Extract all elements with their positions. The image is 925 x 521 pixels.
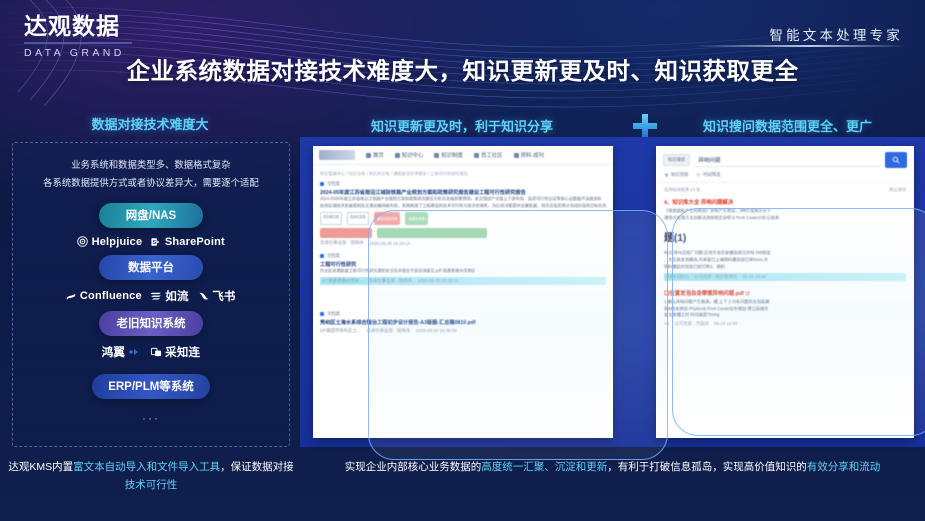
search-button[interactable] xyxy=(885,152,907,168)
pill-erp-plm[interactable]: ERP/PLM等系统 xyxy=(92,374,210,399)
mid-nav-resource[interactable]: 资料-成刊 xyxy=(514,151,544,159)
mid-doc-snippet: 作业区进港航道工程可行性研究通航安全技术报告专家咨询意见.pdf 南通港通州湾港… xyxy=(320,268,606,275)
result-snippet: 理&根本原因 Physics& Root Cause钻布增加 博三段缝合 xyxy=(664,306,906,313)
helpjuice-icon xyxy=(77,236,88,247)
right-searchbar: 知识搜索 异响问题 xyxy=(656,146,914,172)
caption-left-run-3: 技术可行性 xyxy=(125,479,178,491)
mid-doc-title[interactable]: 工程可行性研究 xyxy=(320,261,606,268)
mid-nav-knowledge-policy[interactable]: 知识制度 xyxy=(434,151,463,159)
brand-caizhilian-label: 采知连 xyxy=(165,344,200,360)
brand-ruliu-label: 如流 xyxy=(165,288,188,304)
mid-doc-bullet-icon xyxy=(320,312,324,316)
result-meta-tag: 异响问题(1) xyxy=(666,274,689,280)
feishu-icon xyxy=(198,291,209,301)
brand-feishu: 飞书 xyxy=(198,288,236,304)
panel-desc-line-1: 业务系统和数据类型多、数据格式复杂 xyxy=(23,156,279,174)
mid-app-logo xyxy=(319,150,355,160)
svg-text:S: S xyxy=(153,240,157,246)
caption-left-run-2: ，保证数据对接 xyxy=(220,461,294,473)
tagline-underline xyxy=(692,45,907,47)
mid-nav-knowledge-center[interactable]: 知识中心 xyxy=(395,151,424,159)
mid-doc-meta-prefix: DP莆田市秀屿区土... xyxy=(320,328,361,334)
more-sources-ellipsis: ··· xyxy=(13,411,289,425)
brand-helpjuice: Helpjuice xyxy=(77,236,142,248)
caption-right-run-2: ，有利于打破信息孤岛，实现高价值知识的 xyxy=(607,461,807,473)
brand-caizhilian: 采知连 xyxy=(151,344,201,360)
result-meta: A4 公司总部 · 万国龙 05-19 16:55 xyxy=(664,321,906,327)
mid-chip-green: 进度安排表 xyxy=(405,212,428,225)
brand-hongyi: 鸿翼 xyxy=(102,344,142,360)
search-scope-select[interactable]: 知识搜索 xyxy=(663,154,690,166)
mid-doc-meta-time: 2025-05-30 16:38:08 xyxy=(416,328,457,333)
mid-bar-red xyxy=(320,228,372,238)
mid-doc-title[interactable]: 秀屿区土海水系综合整治工程初步设计报告-A3版图-汇总稿0810.pdf xyxy=(320,319,606,326)
brand-feishu-label: 飞书 xyxy=(212,288,235,304)
result-snippet: 《排放超标产生的原因》异响产生原因，3种分类表示分于 xyxy=(664,208,906,215)
mid-doc-snippet: 2024-2025年度江苏省南沿江铁路产业规划方案和政策研究报告分析及发展前景预… xyxy=(320,196,606,203)
tagline: 智能文本处理专家 xyxy=(769,24,903,44)
brand-row-netdisk: Helpjuice S SharePoint xyxy=(13,236,289,248)
result-meta-time: 05-19 16:55 xyxy=(714,321,737,327)
filter-time[interactable]: 时间筛选 xyxy=(696,172,720,178)
result-meta: 异响问题(1) 公司总部 · 知识管理员 05-20 10:49 xyxy=(664,273,906,281)
caption-right-run-0: 实现企业内部核心业务数据的 xyxy=(345,461,482,473)
mid-nav-home[interactable]: 首页 xyxy=(366,151,384,159)
mid-doc-tablechips: 项目概况表 投资估算表 建设内容说明 进度安排表 xyxy=(320,212,606,225)
mid-doc-meta-time: 2025-05-30 16:19:11 xyxy=(418,278,458,283)
mid-minibox: 投资估算表 xyxy=(347,212,369,225)
filter-knowledge-scope[interactable]: 知识范围 xyxy=(664,172,688,178)
mid-doc-meta: 总承包事业部 · 饶炜玮 2025-05-30 16:19:14 xyxy=(320,240,606,246)
result-meta-dept: 公司总部 · 万国龙 xyxy=(674,321,709,327)
mid-doc-meta-dept: 总承包事业部 · 饶炜玮 xyxy=(367,328,410,334)
brand-helpjuice-label: Helpjuice xyxy=(92,236,143,248)
result-snippet: 通用式处理方法及解决流程规定说明 & Root Cause分析记录表 xyxy=(664,215,906,222)
mid-doc-bullet-icon xyxy=(320,254,324,258)
knowledge-update-screenshot[interactable]: 首页 知识中心 知识制度 员工社区 资料-成刊 知识管理中心 / 知识分享 / … xyxy=(313,146,613,438)
brand-row-legacy: 鸿翼 采知连 xyxy=(13,344,289,360)
mid-doc-meta: DP莆田市秀屿区土... 总承包事业部 · 饶炜玮 2025-05-30 16:… xyxy=(320,328,606,334)
section-title-right: 知识搜问数据范围更全、更广 xyxy=(655,116,920,135)
result-snippet: 省去割槽工时 时间速度Timing xyxy=(664,312,906,319)
brand-sharepoint: S SharePoint xyxy=(151,236,225,248)
ruliu-icon xyxy=(151,291,162,300)
mid-doc-meta-dept: 总承包事业部 · 饶炜玮 xyxy=(320,240,363,246)
result-snippet: 1.确认异响问题产生根源。槽,上下 2.分析问题的长短距解 xyxy=(664,299,906,306)
brand-logo-cn: 达观数据 xyxy=(24,14,144,38)
brand-sharepoint-label: SharePoint xyxy=(165,236,225,248)
mid-doc-tag: 文档类 xyxy=(320,181,606,187)
mid-doc-meta-dept: 总承包事业部 · 饶炜玮 xyxy=(369,278,412,284)
mid-topbar: 首页 知识中心 知识制度 员工社区 资料-成刊 xyxy=(313,146,613,165)
slide-root: 达观数据 DATA GRAND 智能文本处理专家 企业系统数据对接技术难度大，知… xyxy=(0,0,925,521)
mid-doc-bullet-icon xyxy=(320,182,324,186)
result-snippet: 地点:常州总装厂问题:后排大坐吊紧槽处按压异响 085制定 xyxy=(664,250,906,257)
pill-data-platform[interactable]: 数据平台 xyxy=(99,255,203,280)
mid-doc-title[interactable]: 2024-05年度江苏省南沿江城际铁路产业规划方案和政策研究报告建设工程可行性研… xyxy=(320,189,606,196)
mid-doc-entry[interactable]: 文档类 工程可行性研究 作业区进港航道工程可行性研究通航安全技术报告专家咨询意见… xyxy=(320,253,606,285)
mid-body: 知识管理中心 / 知识分享 / 知识库文档 / 通航安全技术报告 / 工程可行性… xyxy=(313,165,613,345)
result-title[interactable]: 4、知识库大全 异响问题解决 xyxy=(664,198,906,206)
knowledge-search-screenshot[interactable]: 知识搜索 异响问题 知识范围 xyxy=(656,146,914,438)
confluence-icon xyxy=(66,291,76,301)
plus-icon xyxy=(631,112,659,140)
mid-doc-tag: 文档类 xyxy=(320,311,606,317)
result-title[interactable]: 口位置发泡自身摩擦异响问题.pdf xyxy=(664,289,906,297)
mid-doc-meta-prefix: 17 南通港通州湾海... xyxy=(322,278,363,284)
pill-netdisk-nas[interactable]: 网盘/NAS xyxy=(99,203,203,228)
hongyi-arrow-icon xyxy=(129,348,142,356)
caption-left-run-1: 富文本自动导入和文件导入工具 xyxy=(73,461,220,473)
caption-right-run-1: 高度统一汇聚、沉淀和更新 xyxy=(481,461,607,473)
page-title: 企业系统数据对接技术难度大，知识更新更及时、知识获取更全 xyxy=(0,52,925,86)
panel-desc-line-2: 各系统数据提供方式或者协议差异大，需要逐个适配 xyxy=(23,174,279,192)
result-snippet: 隔料槽此时局部已经打断2、隔料 xyxy=(664,264,906,271)
caption-right-run-3: 有效分享和流动 xyxy=(807,461,881,473)
result-meta-dept: 公司总部 · 知识管理员 xyxy=(694,274,737,280)
filter-icon xyxy=(664,173,669,178)
search-result-item[interactable]: 地点:常州总装厂问题:后排大坐吊紧槽处按压异响 085制定 、大后座发泡模具,吊… xyxy=(656,247,914,286)
caption-left-run-0: 达观KMS内置 xyxy=(8,461,73,473)
sharepoint-icon: S xyxy=(151,237,161,247)
search-result-item[interactable]: 4、知识库大全 异响问题解决 《排放超标产生的原因》异响产生原因，3种分类表示分… xyxy=(656,195,914,227)
mid-breadcrumb: 知识管理中心 / 知识分享 / 知识库文档 / 通航安全技术报告 / 工程可行性… xyxy=(320,171,606,177)
result-count: 找到相关结果 23 条 xyxy=(664,187,700,193)
brand-ruliu: 如流 xyxy=(151,288,189,304)
pill-legacy-knowledge[interactable]: 老旧知识系统 xyxy=(99,311,203,336)
mid-shot-content: 首页 知识中心 知识制度 员工社区 资料-成刊 知识管理中心 / 知识分享 / … xyxy=(313,146,613,438)
brand-hongyi-label: 鸿翼 xyxy=(102,344,125,360)
section-title-mid: 知识更新更及时，利于知识分享 xyxy=(312,116,612,135)
mid-doc-tag: 文档类 xyxy=(320,253,606,259)
result-snippet: 、大后座发泡模具,吊紧窗口上端隔料槽局部打掉5mm,共 xyxy=(664,257,906,264)
external-link-icon[interactable] xyxy=(745,291,750,296)
brand-row-platform: Confluence 如流 飞书 xyxy=(13,288,289,304)
mid-bar-green xyxy=(377,228,487,238)
mid-doc-meta-time: 2025-05-30 16:19:14 xyxy=(369,241,410,246)
section-title-left: 数据对接技术难度大 xyxy=(0,114,300,133)
mid-doc-entry[interactable]: 文档类 2024-05年度江苏省南沿江城际铁路产业规划方案和政策研究报告建设工程… xyxy=(320,181,606,246)
brand-logo-rule xyxy=(24,42,132,44)
caption-left: 达观KMS内置富文本自动导入和文件导入工具，保证数据对接技术可行性 xyxy=(8,458,294,495)
mid-nav-staff-community[interactable]: 员工社区 xyxy=(474,151,503,159)
mid-doc-meta-highlighted: 17 南通港通州湾海... 总承包事业部 · 饶炜玮 2025-05-30 16… xyxy=(320,277,606,285)
search-icon xyxy=(892,156,900,164)
answer-heading: 题(1) xyxy=(656,229,914,244)
search-result-item[interactable]: 口位置发泡自身摩擦异响问题.pdf 1.确认异响问题产生根源。槽,上下 2.分析… xyxy=(656,286,914,333)
mid-doc-entry[interactable]: 文档类 秀屿区土海水系综合整治工程初步设计报告-A3版图-汇总稿0810.pdf… xyxy=(320,311,606,334)
mid-minibox: 项目概况表 xyxy=(320,212,342,225)
right-filters: 知识范围 时间筛选 xyxy=(656,172,914,183)
right-shot-content: 知识搜索 异响问题 知识范围 xyxy=(656,146,914,438)
mid-chip-red: 建设内容说明 xyxy=(374,212,400,225)
right-results-bar: 找到相关结果 23 条 默认排序 xyxy=(656,183,914,195)
mid-doc-snippet: 结合区域经济发展规划及交通运输网络布局，系统梳理了工程建设的技术可行性与经济合理… xyxy=(320,203,606,210)
mid-doc-bars xyxy=(320,228,606,238)
sort-icon xyxy=(696,173,701,178)
result-meta-time: 05-20 10:49 xyxy=(742,274,765,280)
brand-confluence: Confluence xyxy=(66,290,141,302)
caizhilian-icon xyxy=(151,347,162,357)
caption-right: 实现企业内部核心业务数据的高度统一汇聚、沉淀和更新，有利于打破信息孤岛，实现高价… xyxy=(300,458,925,476)
panel-description: 业务系统和数据类型多、数据格式复杂 各系统数据提供方式或者协议差异大，需要逐个适… xyxy=(13,143,289,196)
sort-control[interactable]: 默认排序 xyxy=(889,187,906,193)
search-input[interactable]: 异响问题 xyxy=(694,154,881,167)
data-sources-panel: 业务系统和数据类型多、数据格式复杂 各系统数据提供方式或者协议差异大，需要逐个适… xyxy=(12,142,290,447)
brand-confluence-label: Confluence xyxy=(80,290,142,302)
result-meta-tag: A4 xyxy=(664,321,669,327)
